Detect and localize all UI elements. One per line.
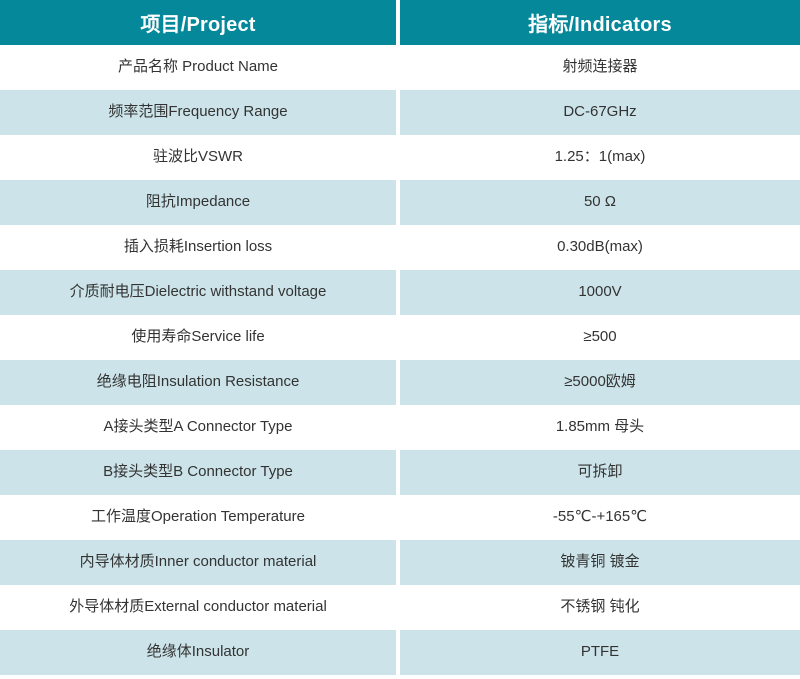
cell-indicator: 50 Ω	[400, 180, 800, 225]
table-row: 阻抗Impedance50 Ω	[0, 180, 800, 225]
cell-project: 工作温度Operation Temperature	[0, 495, 400, 540]
cell-indicator: 铍青铜 镀金	[400, 540, 800, 585]
table-row: 驻波比VSWR1.25：1(max)	[0, 135, 800, 180]
cell-project: 外导体材质External conductor material	[0, 585, 400, 630]
table-row: 绝缘电阻Insulation Resistance≥5000欧姆	[0, 360, 800, 405]
table-row: 频率范围Frequency RangeDC-67GHz	[0, 90, 800, 135]
cell-project: 使用寿命Service life	[0, 315, 400, 360]
table-row: 绝缘体InsulatorPTFE	[0, 630, 800, 675]
cell-indicator: ≥500	[400, 315, 800, 360]
cell-project: 驻波比VSWR	[0, 135, 400, 180]
cell-indicator: 射频连接器	[400, 45, 800, 90]
cell-indicator: PTFE	[400, 630, 800, 675]
cell-indicator: 0.30dB(max)	[400, 225, 800, 270]
table-row: 插入损耗Insertion loss0.30dB(max)	[0, 225, 800, 270]
cell-project: 阻抗Impedance	[0, 180, 400, 225]
table-header: 项目/Project 指标/Indicators	[0, 0, 800, 45]
cell-project: B接头类型B Connector Type	[0, 450, 400, 495]
table-row: A接头类型A Connector Type1.85mm 母头	[0, 405, 800, 450]
column-header-indicator: 指标/Indicators	[400, 0, 800, 45]
cell-indicator: 可拆卸	[400, 450, 800, 495]
table-row: B接头类型B Connector Type可拆卸	[0, 450, 800, 495]
table-header-row: 项目/Project 指标/Indicators	[0, 0, 800, 45]
cell-project: 插入损耗Insertion loss	[0, 225, 400, 270]
cell-project: 绝缘电阻Insulation Resistance	[0, 360, 400, 405]
cell-indicator: 1.85mm 母头	[400, 405, 800, 450]
cell-indicator: DC-67GHz	[400, 90, 800, 135]
cell-project: 内导体材质Inner conductor material	[0, 540, 400, 585]
cell-project: 绝缘体Insulator	[0, 630, 400, 675]
column-header-project: 项目/Project	[0, 0, 400, 45]
cell-indicator: 1.25：1(max)	[400, 135, 800, 180]
cell-project: 产品名称 Product Name	[0, 45, 400, 90]
cell-indicator: 1000V	[400, 270, 800, 315]
table-row: 使用寿命Service life≥500	[0, 315, 800, 360]
cell-project: 频率范围Frequency Range	[0, 90, 400, 135]
specification-table: 项目/Project 指标/Indicators 产品名称 Product Na…	[0, 0, 800, 675]
table-row: 工作温度Operation Temperature-55℃-+165℃	[0, 495, 800, 540]
cell-project: A接头类型A Connector Type	[0, 405, 400, 450]
cell-indicator: ≥5000欧姆	[400, 360, 800, 405]
cell-project: 介质耐电压Dielectric withstand voltage	[0, 270, 400, 315]
table-row: 产品名称 Product Name射频连接器	[0, 45, 800, 90]
cell-indicator: 不锈钢 钝化	[400, 585, 800, 630]
table-row: 内导体材质Inner conductor material铍青铜 镀金	[0, 540, 800, 585]
table-row: 外导体材质External conductor material不锈钢 钝化	[0, 585, 800, 630]
table-row: 介质耐电压Dielectric withstand voltage1000V	[0, 270, 800, 315]
table-body: 产品名称 Product Name射频连接器频率范围Frequency Rang…	[0, 45, 800, 675]
cell-indicator: -55℃-+165℃	[400, 495, 800, 540]
